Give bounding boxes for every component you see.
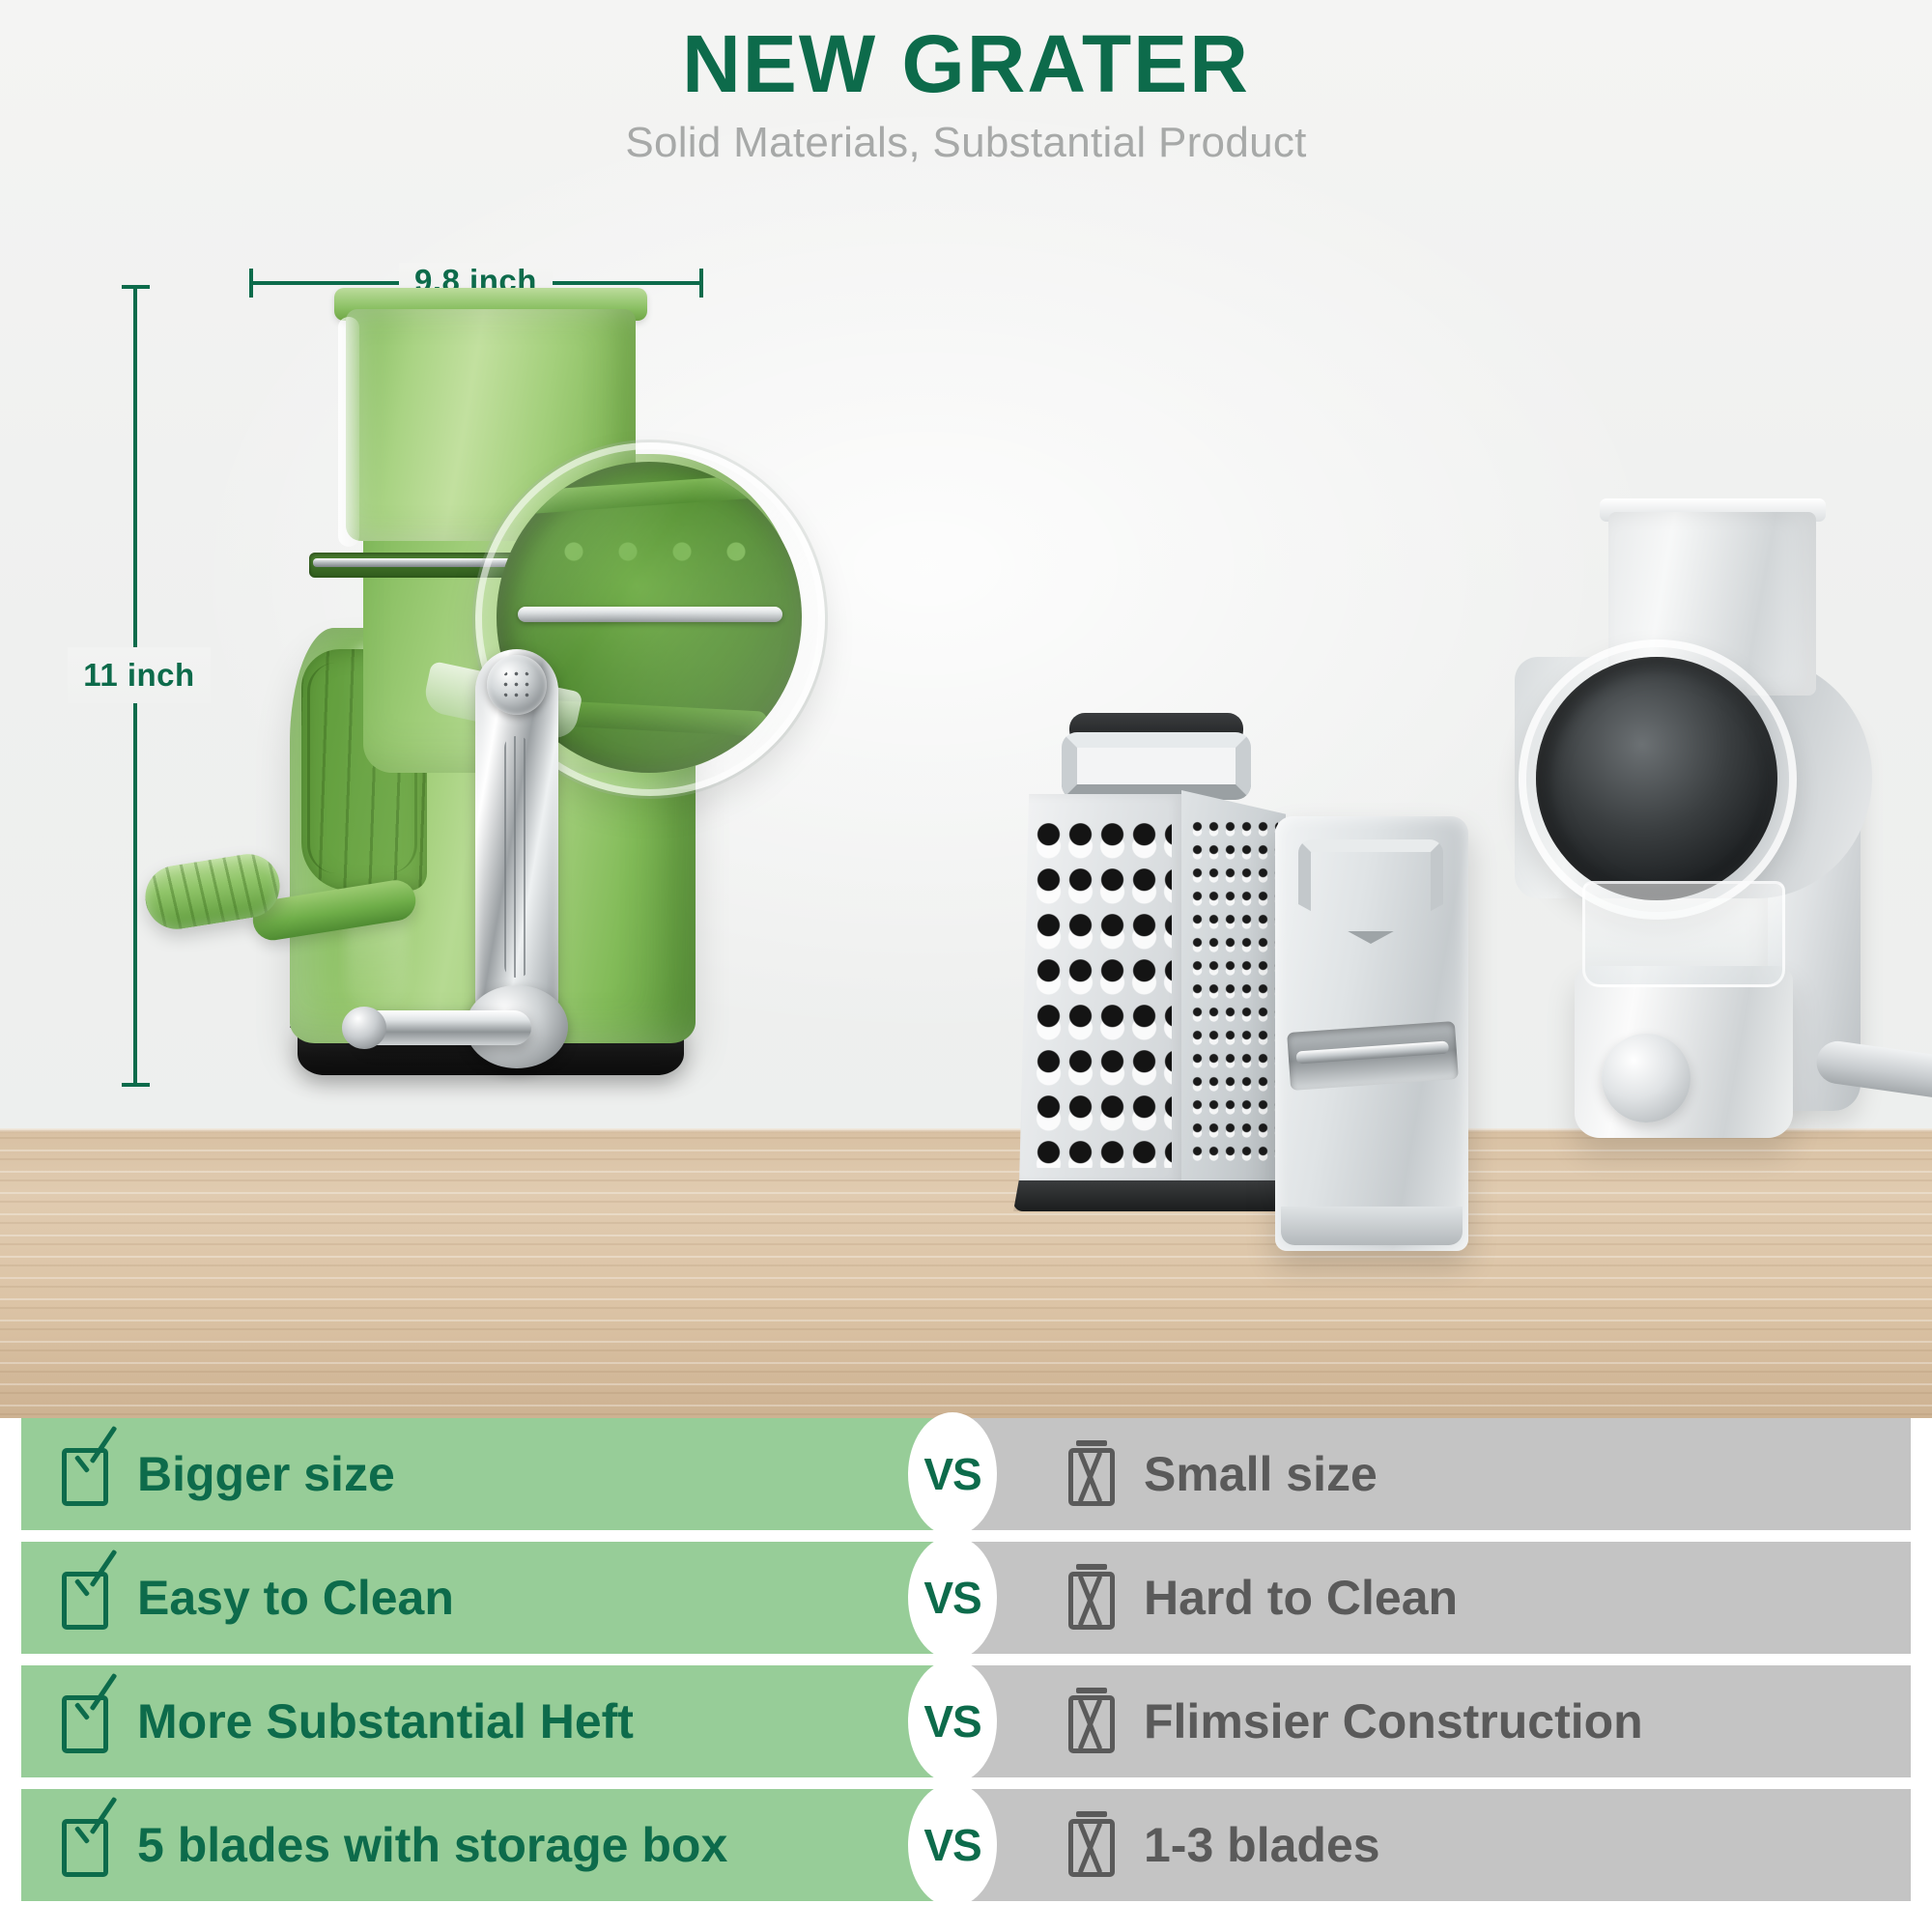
comparison-con-label: Hard to Clean <box>1144 1570 1458 1626</box>
checkbox-check-icon <box>58 1564 112 1632</box>
comparison-con-cell: Flimsier Construction <box>952 1665 1911 1777</box>
stainless-box-grater <box>1009 715 1290 1236</box>
vs-label: VS <box>923 1572 980 1624</box>
box-grater-coarse-face <box>1019 794 1183 1185</box>
white-grater-transparent-lid <box>1519 639 1797 920</box>
width-dimension-cap-left <box>249 269 253 298</box>
vs-label: VS <box>923 1695 980 1747</box>
checkbox-cross-icon <box>1065 1811 1119 1879</box>
comparison-pro-label: More Substantial Heft <box>137 1693 634 1749</box>
grater-hopper-highlight <box>338 317 359 547</box>
comparison-row: Bigger size VS Small size <box>0 1418 1932 1530</box>
comparison-con-cell: 1-3 blades <box>952 1789 1911 1901</box>
comparison-con-label: 1-3 blades <box>1144 1817 1380 1873</box>
comparison-row: More Substantial Heft VS Flimsier Constr… <box>0 1665 1932 1777</box>
comparison-pro-label: Easy to Clean <box>137 1570 454 1626</box>
comparison-pro-cell: Easy to Clean <box>21 1542 952 1654</box>
vs-badge: VS <box>908 1536 997 1660</box>
page-title: NEW GRATER <box>0 21 1932 107</box>
comparison-row: 5 blades with storage box VS 1-3 blades <box>0 1789 1932 1901</box>
green-rotary-grater <box>135 309 831 1111</box>
product-hero-scene: NEW GRATER Solid Materials, Substantial … <box>0 0 1932 1418</box>
vs-badge: VS <box>908 1412 997 1536</box>
checkbox-check-icon <box>58 1440 112 1508</box>
white-grater-knob <box>1602 1034 1690 1122</box>
comparison-pro-label: 5 blades with storage box <box>137 1817 727 1873</box>
checkbox-cross-icon <box>1065 1440 1119 1508</box>
comparison-con-cell: Hard to Clean <box>952 1542 1911 1654</box>
title-block: NEW GRATER Solid Materials, Substantial … <box>0 21 1932 167</box>
checkbox-cross-icon <box>1065 1688 1119 1755</box>
comparison-pro-label: Bigger size <box>137 1446 395 1502</box>
grater-chrome-handle-bar <box>357 1010 531 1045</box>
comparison-table: Bigger size VS Small size Easy to Clean … <box>0 1418 1932 1932</box>
checkbox-check-icon <box>58 1811 112 1879</box>
wooden-countertop <box>0 1128 1932 1418</box>
comparison-con-label: Small size <box>1144 1446 1378 1502</box>
comparison-pro-cell: Bigger size <box>21 1418 952 1530</box>
comparison-con-cell: Small size <box>952 1418 1911 1530</box>
comparison-row: Easy to Clean VS Hard to Clean <box>0 1542 1932 1654</box>
comparison-con-label: Flimsier Construction <box>1144 1693 1643 1749</box>
vs-badge: VS <box>908 1783 997 1907</box>
comparison-pro-cell: More Substantial Heft <box>21 1665 952 1777</box>
white-grater-collector-cup <box>1582 881 1785 987</box>
box-grater-fine-face <box>1181 790 1286 1188</box>
white-rotary-grater <box>1430 512 1932 1140</box>
comparison-pro-cell: 5 blades with storage box <box>21 1789 952 1901</box>
vs-label: VS <box>923 1448 980 1500</box>
box-grater-handle-loop <box>1062 732 1251 800</box>
width-dimension-cap-right <box>699 269 703 298</box>
grater-perforated-knob <box>487 655 547 715</box>
checkbox-check-icon <box>58 1688 112 1755</box>
checkbox-cross-icon <box>1065 1564 1119 1632</box>
page-subtitle: Solid Materials, Substantial Product <box>0 119 1932 167</box>
height-dimension-cap-top <box>122 285 150 289</box>
vs-label: VS <box>923 1819 980 1871</box>
vs-badge: VS <box>908 1660 997 1783</box>
box-grater-base <box>1013 1180 1290 1211</box>
mandoline-bottom-edge <box>1281 1207 1463 1245</box>
white-grater-base <box>1575 966 1793 1138</box>
